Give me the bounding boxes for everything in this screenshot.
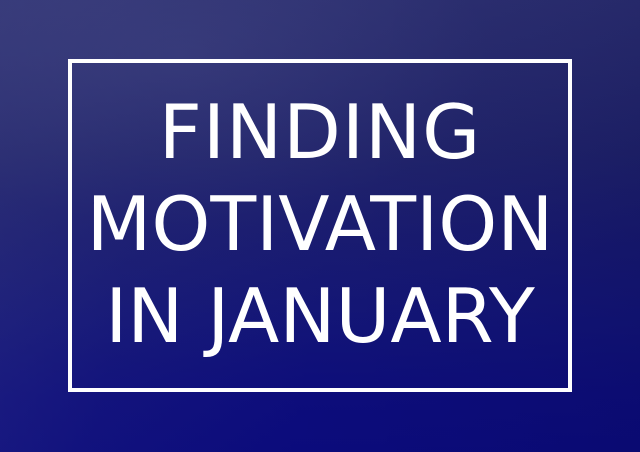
headline-line-2: MOTIVATION (0, 178, 640, 270)
poster-canvas: FINDING MOTIVATION IN JANUARY (0, 0, 640, 452)
headline-line-1: FINDING (0, 86, 640, 178)
poster-headline: FINDING MOTIVATION IN JANUARY (0, 86, 640, 362)
headline-line-3: IN JANUARY (0, 270, 640, 362)
